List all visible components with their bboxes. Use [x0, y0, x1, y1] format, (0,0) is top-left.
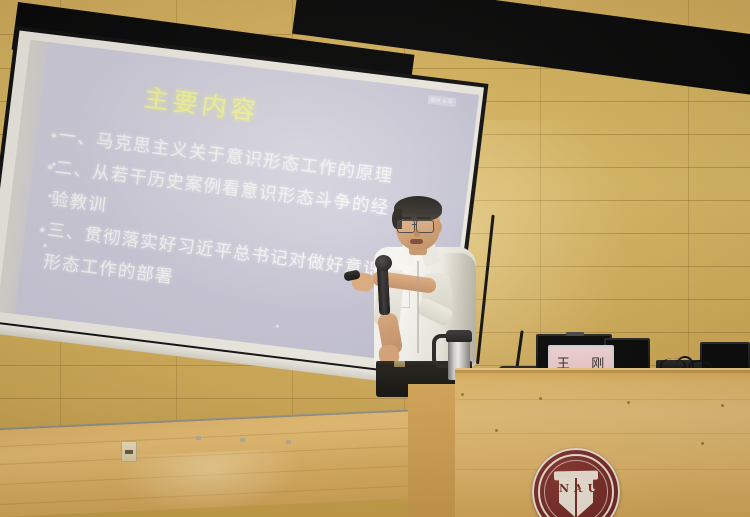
glasses-bridge: [412, 224, 417, 225]
glasses-lens-left: [397, 220, 415, 233]
desk-side-panel: [408, 384, 458, 517]
thermos-cap: [446, 330, 472, 342]
monitor-webcam-bar: [566, 332, 584, 336]
wall-outlet[interactable]: [121, 441, 137, 462]
eyebrow-left: [398, 217, 412, 219]
bullet-text: 验教训: [49, 186, 108, 222]
slide-title: 主要内容: [142, 78, 262, 128]
bullet-marker-icon: [43, 184, 53, 185]
lecture-hall-photo: 图片水印 主要内容 • 一、马克思主义关于意识形态工作的原理 • 二、从若干历史…: [0, 0, 750, 517]
eyebrow-right: [417, 217, 431, 219]
emblem-stars-icon: ✦✦✦: [579, 488, 597, 495]
shirt-placket: [417, 261, 419, 353]
nose: [414, 229, 420, 237]
slide-watermark: 图片水印: [427, 95, 456, 107]
mouth: [410, 239, 423, 244]
ear: [434, 221, 442, 233]
floor-reflection: [120, 448, 300, 516]
